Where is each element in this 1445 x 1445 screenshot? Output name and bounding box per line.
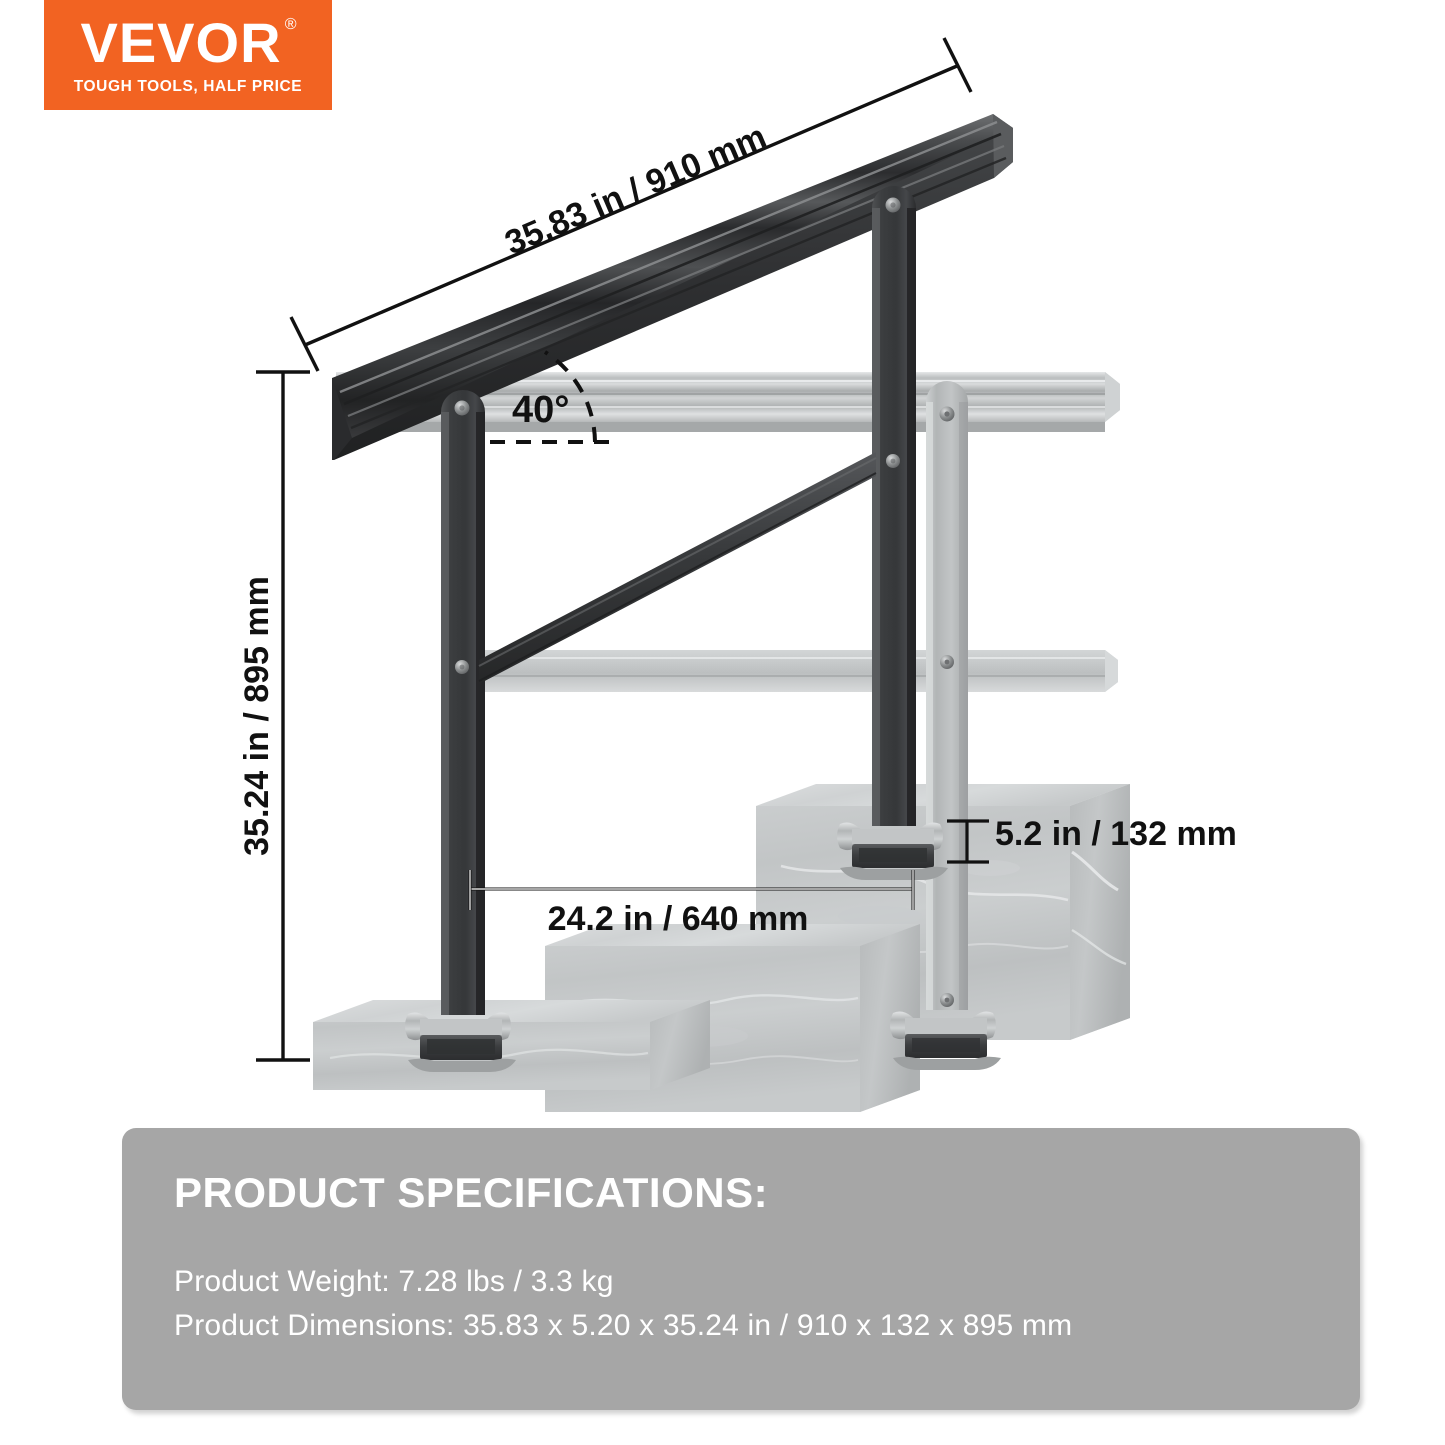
light-bottom-rail [452,650,1118,692]
stone-step-bottom [313,1000,710,1090]
light-post-right [926,381,968,1010]
product-specifications-panel: PRODUCT SPECIFICATIONS: Product Weight: … [122,1128,1360,1410]
dimension-label-base-depth: 5.2 in / 132 mm [995,815,1237,853]
dimension-label-angle: 40° [512,389,569,431]
dark-post-right [872,186,916,826]
light-post-base-plate [890,1012,1001,1070]
dimension-label-spacing: 24.2 in / 640 mm [548,900,809,938]
specifications-title: PRODUCT SPECIFICATIONS: [174,1172,1360,1214]
dimension-total-height: 35.24 in / 895 mm [238,372,310,1060]
dimension-label-height: 35.24 in / 895 mm [238,576,276,856]
dark-diagonal-brace [479,452,876,684]
spec-line-dimensions: Product Dimensions: 35.83 x 5.20 x 35.24… [174,1304,1360,1348]
dark-post-base-plate-left [405,1013,516,1072]
product-spec-page: VEVOR ® TOUGH TOOLS, HALF PRICE [0,0,1445,1445]
dark-post-left [441,390,485,1015]
spec-line-weight: Product Weight: 7.28 lbs / 3.3 kg [174,1260,1360,1304]
handrail-diagram: 35.83 in / 910 mm 35.24 in / 895 mm 24.2… [0,0,1445,1130]
dark-post-base-plate-right [837,823,948,880]
